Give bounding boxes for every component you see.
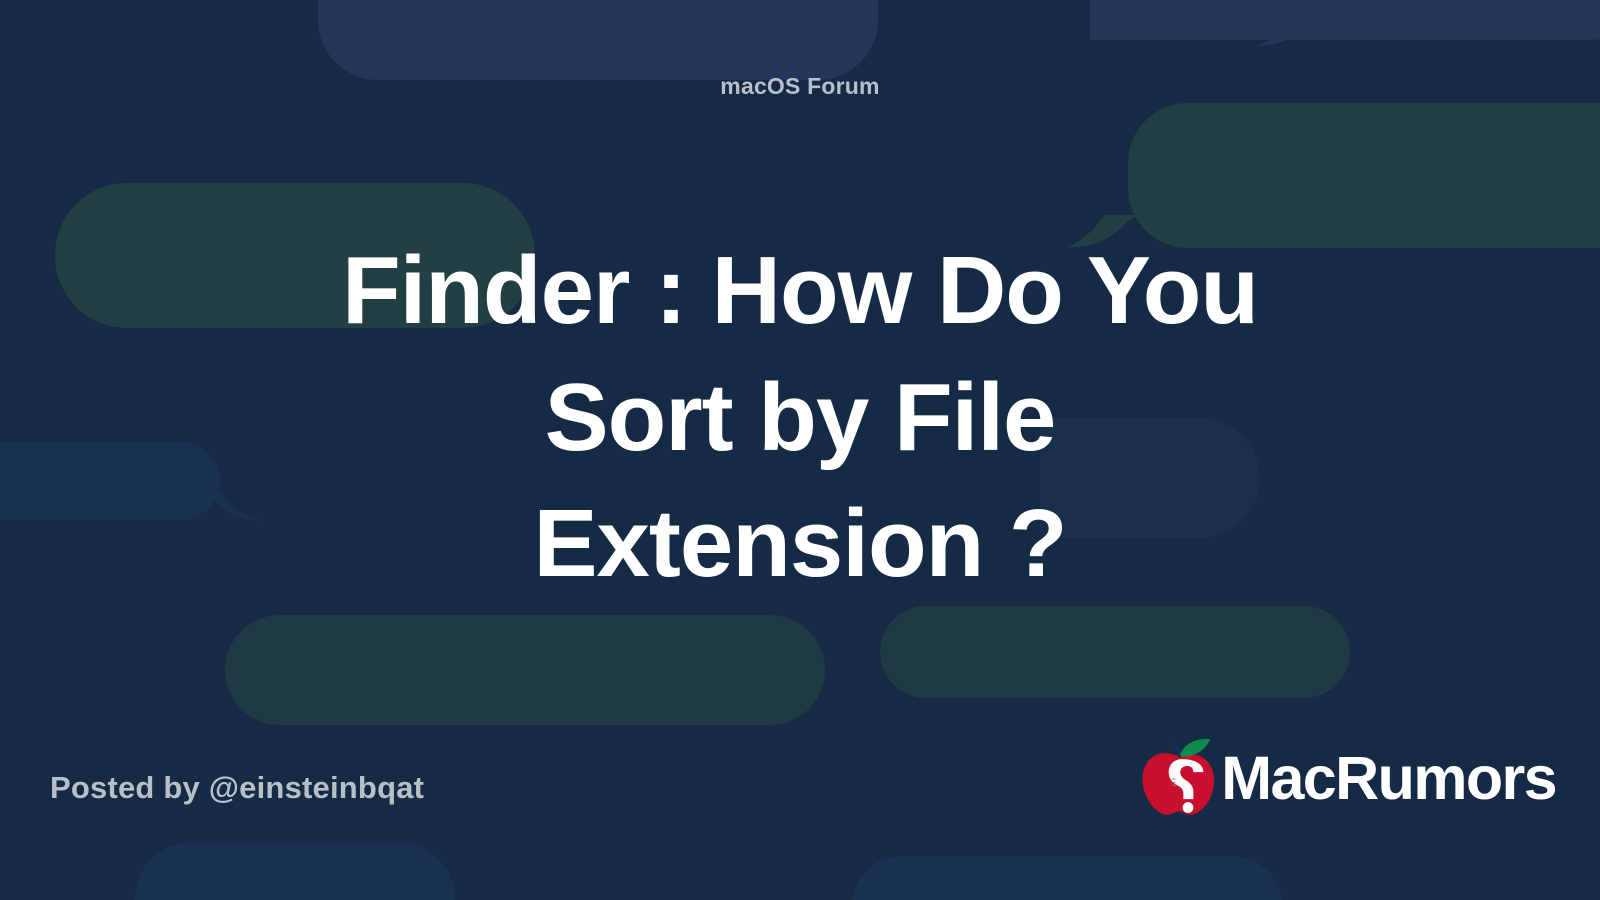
- page-title-line: Extension ?: [120, 481, 1480, 608]
- page-title-line: Sort by File: [120, 355, 1480, 482]
- chat-bubble-decor: [135, 843, 455, 900]
- forum-label: macOS Forum: [0, 73, 1600, 100]
- chat-bubble-decor: [880, 606, 1350, 698]
- chat-bubble-decor: [1128, 103, 1600, 248]
- macrumors-logo: MacRumors: [1139, 736, 1556, 816]
- chat-bubble-decor: [318, 0, 878, 80]
- chat-bubble-tail-icon: [1255, 20, 1345, 46]
- page-title-line: Finder : How Do You: [120, 228, 1480, 355]
- post-byline: Posted by @einsteinbqat: [50, 770, 424, 806]
- chat-bubble-decor: [852, 856, 1282, 900]
- chat-bubble-decor: [225, 615, 825, 725]
- social-share-card: macOS Forum Finder : How Do You Sort by …: [0, 0, 1600, 900]
- macrumors-wordmark: MacRumors: [1221, 748, 1556, 809]
- chat-bubble-decor: [1090, 0, 1600, 40]
- macrumors-apple-icon: [1139, 736, 1217, 816]
- page-title: Finder : How Do You Sort by File Extensi…: [0, 228, 1600, 608]
